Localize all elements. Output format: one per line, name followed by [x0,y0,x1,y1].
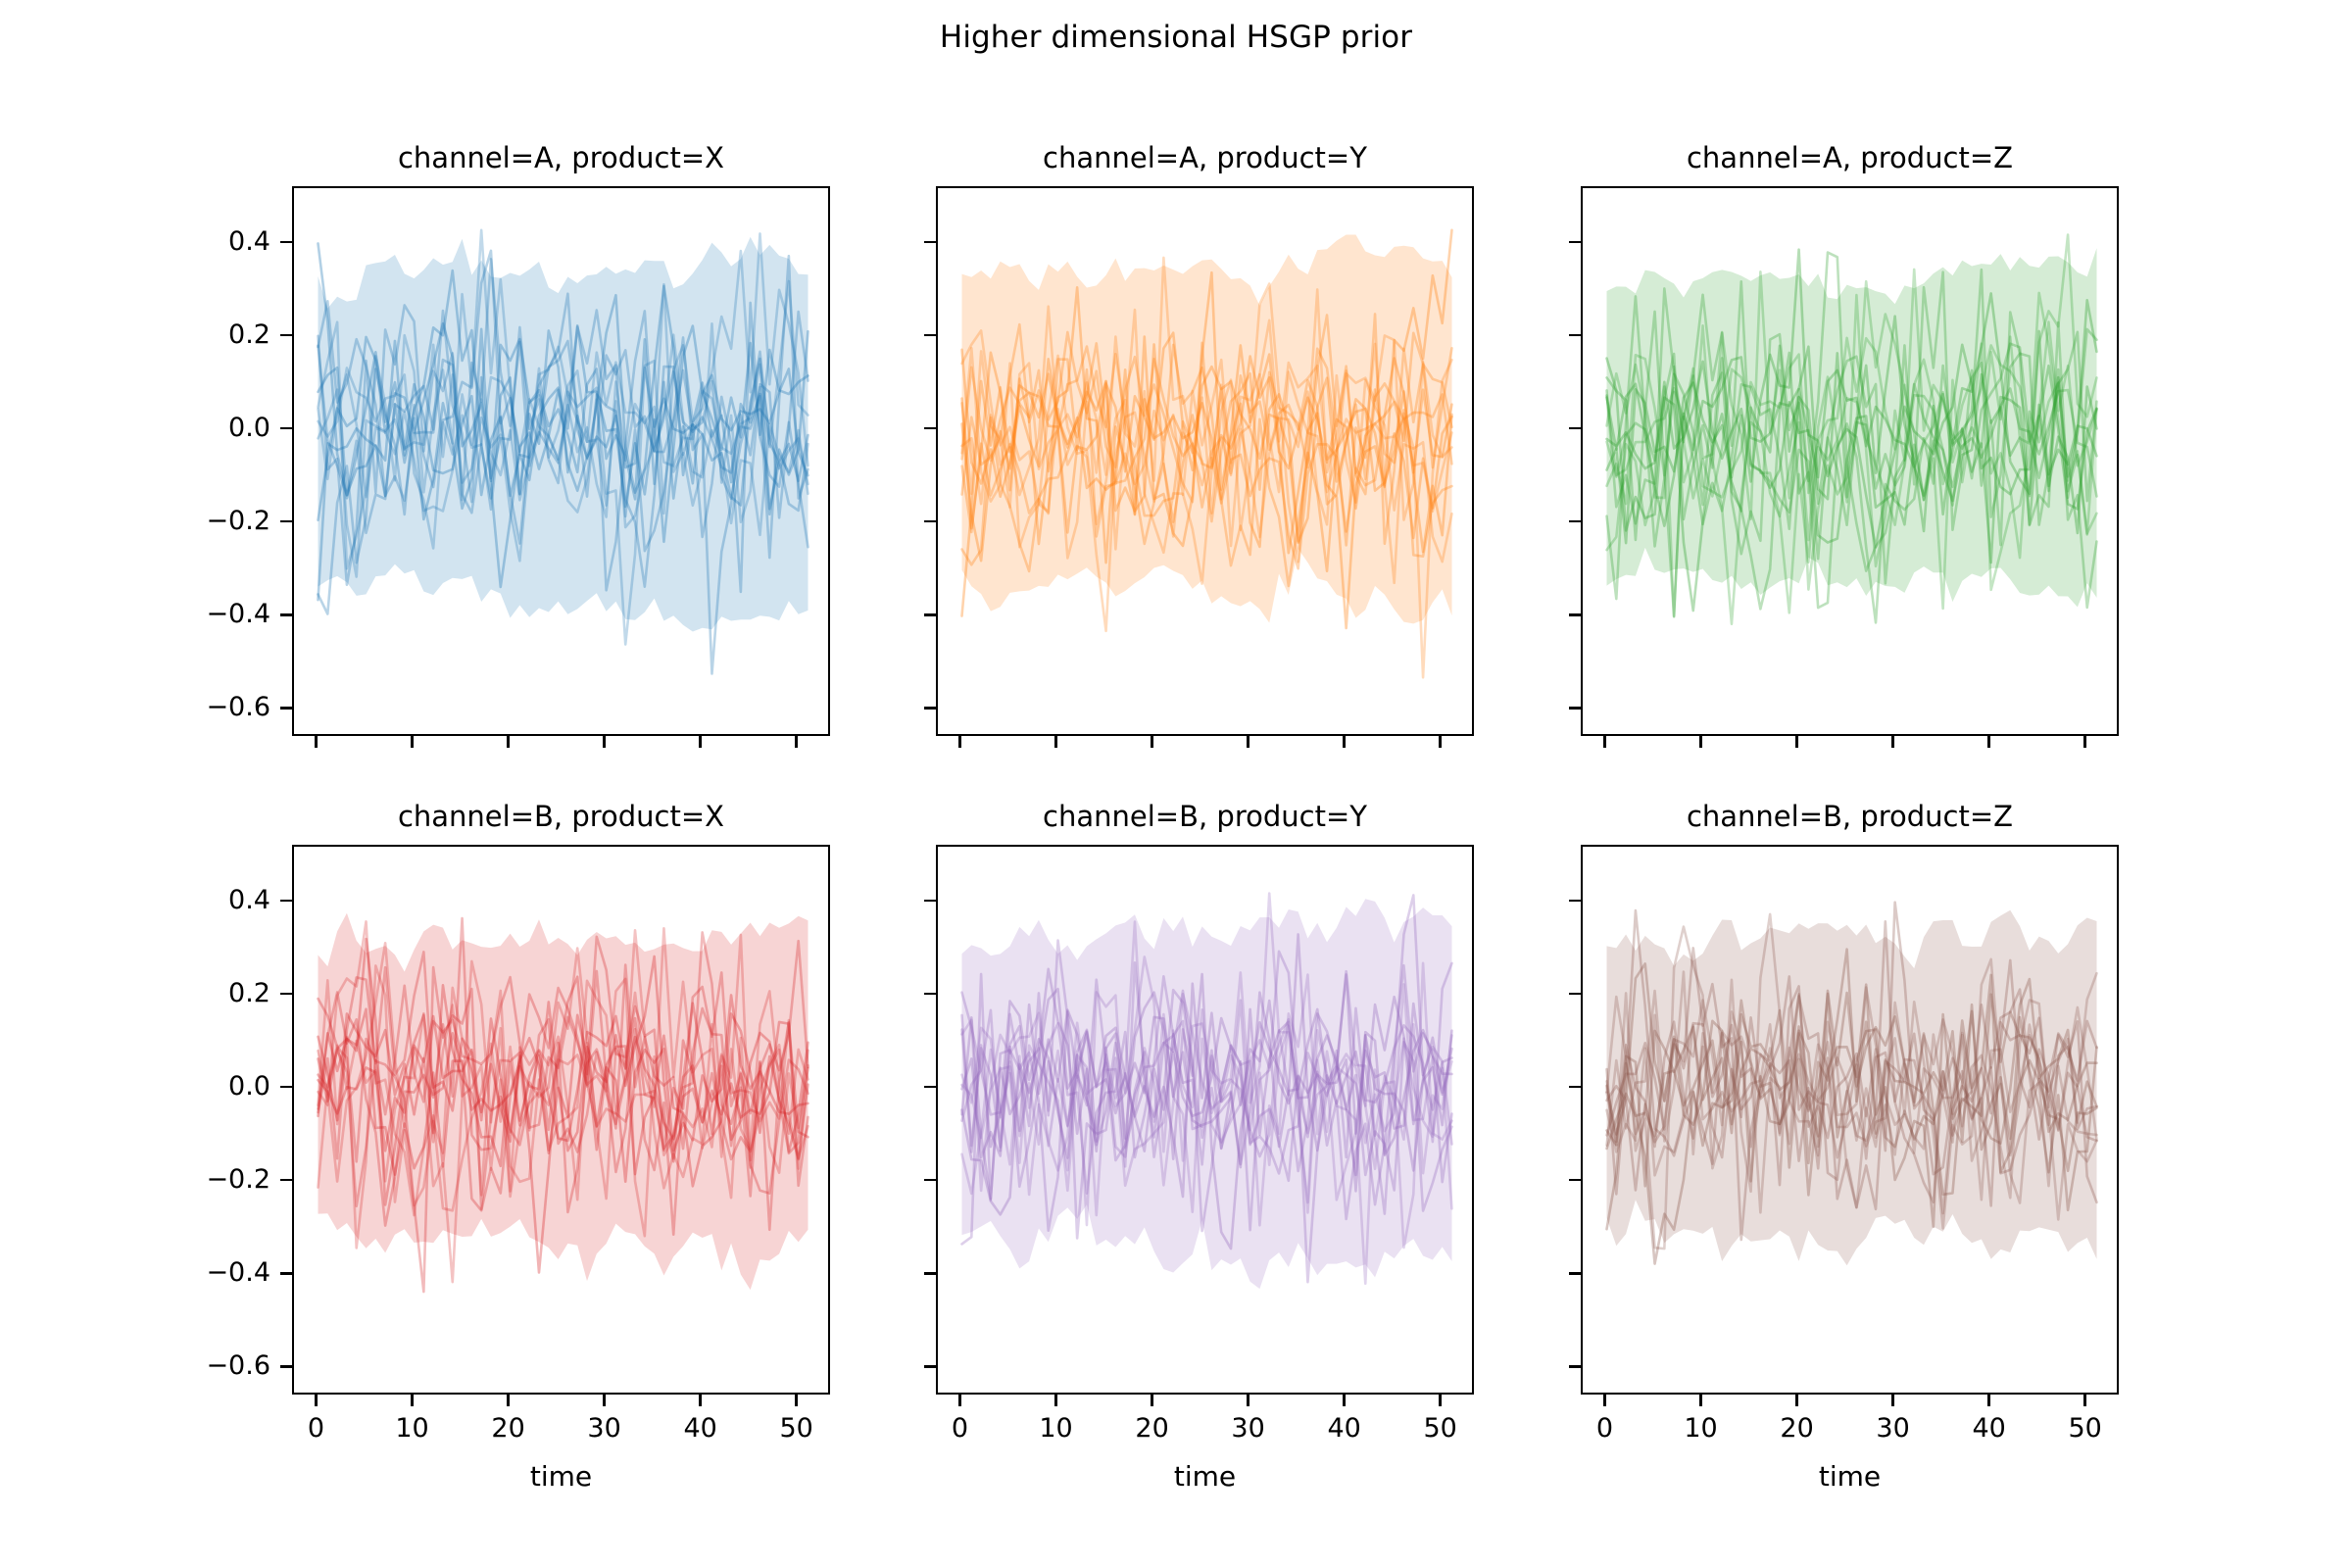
subplot-a-z: channel=A, product=Z [1581,186,2119,736]
y-tick-mark [924,241,936,243]
y-tick-mark [924,1179,936,1181]
plot-lines [1583,188,2119,736]
x-tick-mark [603,736,605,748]
figure-canvas: Higher dimensional HSGP prior channel=A,… [0,0,2352,1568]
y-tick-mark [924,1086,936,1088]
y-tick-mark [280,1179,292,1181]
y-tick-mark [924,613,936,615]
y-tick-mark [280,520,292,522]
x-tick-label: 50 [2069,1414,2102,1444]
y-tick-mark [280,613,292,615]
x-tick-mark [315,1395,317,1406]
axes-area [292,845,830,1395]
y-tick-label: −0.6 [96,1351,270,1381]
y-tick-mark [1569,427,1581,429]
y-tick-mark [1569,707,1581,709]
axes-area [1581,845,2119,1395]
y-tick-mark [924,1365,936,1367]
y-tick-mark [1569,993,1581,995]
x-tick-label: 10 [395,1414,428,1444]
x-tick-mark [1891,736,1893,748]
y-tick-label: 0.4 [96,886,270,915]
x-tick-label: 50 [780,1414,813,1444]
x-tick-label: 20 [1135,1414,1168,1444]
y-tick-label: −0.2 [96,1165,270,1195]
y-tick-label: 0.0 [96,414,270,443]
plot-lines [294,847,830,1395]
x-tick-label: 10 [1684,1414,1717,1444]
y-tick-label: 0.4 [96,227,270,257]
x-tick-label: 0 [1596,1414,1613,1444]
plot-lines [1583,847,2119,1395]
y-tick-label: 0.2 [96,320,270,350]
x-tick-label: 30 [587,1414,620,1444]
x-tick-mark [411,736,413,748]
y-tick-mark [1569,900,1581,902]
y-tick-mark [1569,1272,1581,1274]
x-tick-mark [1603,736,1605,748]
y-tick-mark [1569,241,1581,243]
x-tick-mark [795,1395,797,1406]
x-tick-mark [1343,1395,1345,1406]
y-tick-mark [924,334,936,336]
x-tick-mark [699,1395,701,1406]
subplot-title: channel=B, product=X [292,800,830,833]
y-tick-mark [280,993,292,995]
y-tick-mark [280,427,292,429]
subplot-title: channel=B, product=Z [1581,800,2119,833]
plot-lines [938,847,1474,1395]
axes-area [1581,186,2119,736]
x-tick-mark [507,1395,509,1406]
y-tick-mark [280,707,292,709]
x-tick-label: 30 [1876,1414,1909,1444]
subplot-a-x: channel=A, product=X0.40.20.0−0.2−0.4−0.… [292,186,830,736]
y-tick-mark [280,1365,292,1367]
x-tick-mark [2083,736,2085,748]
subplot-title: channel=A, product=Y [936,141,1474,174]
x-tick-label: 0 [308,1414,324,1444]
x-tick-mark [1891,1395,1893,1406]
x-tick-mark [1054,1395,1056,1406]
x-tick-mark [2083,1395,2085,1406]
y-tick-mark [280,1272,292,1274]
x-axis-label: time [292,1461,830,1493]
figure-suptitle: Higher dimensional HSGP prior [0,18,2352,57]
subplot-title: channel=A, product=X [292,141,830,174]
y-tick-mark [1569,334,1581,336]
plot-lines [938,188,1474,736]
y-tick-mark [924,427,936,429]
y-tick-mark [924,1272,936,1274]
y-tick-mark [924,900,936,902]
x-tick-label: 20 [491,1414,524,1444]
y-tick-label: 0.0 [96,1072,270,1102]
x-tick-mark [1439,1395,1441,1406]
x-tick-label: 10 [1039,1414,1072,1444]
subplot-b-z: channel=B, product=Z01020304050time [1581,845,2119,1395]
y-tick-mark [1569,613,1581,615]
axes-area [936,845,1474,1395]
x-tick-mark [1795,1395,1797,1406]
x-tick-mark [1151,1395,1152,1406]
y-tick-mark [924,707,936,709]
x-tick-mark [603,1395,605,1406]
subplot-title: channel=B, product=Y [936,800,1474,833]
y-tick-mark [1569,520,1581,522]
y-tick-mark [1569,1365,1581,1367]
y-tick-mark [280,241,292,243]
y-tick-mark [280,1086,292,1088]
x-tick-label: 40 [1327,1414,1360,1444]
x-tick-label: 20 [1780,1414,1813,1444]
subplot-a-y: channel=A, product=Y [936,186,1474,736]
x-tick-label: 40 [683,1414,716,1444]
y-tick-mark [1569,1086,1581,1088]
x-tick-mark [1987,1395,1989,1406]
axes-area [936,186,1474,736]
x-axis-label: time [936,1461,1474,1493]
x-tick-mark [1151,736,1152,748]
x-tick-label: 50 [1424,1414,1457,1444]
y-tick-mark [1569,1179,1581,1181]
x-tick-mark [1603,1395,1605,1406]
y-tick-label: 0.2 [96,979,270,1008]
x-tick-mark [958,736,960,748]
y-tick-label: −0.4 [96,600,270,629]
y-tick-mark [924,520,936,522]
x-tick-mark [1699,1395,1701,1406]
x-tick-mark [1795,736,1797,748]
x-tick-mark [1247,1395,1249,1406]
x-tick-mark [411,1395,413,1406]
x-tick-label: 0 [952,1414,968,1444]
x-tick-mark [315,736,317,748]
x-tick-mark [1343,736,1345,748]
y-tick-label: −0.6 [96,693,270,722]
subplot-b-x: channel=B, product=X0.40.20.0−0.2−0.4−0.… [292,845,830,1395]
subplot-b-y: channel=B, product=Y01020304050time [936,845,1474,1395]
y-tick-label: −0.2 [96,507,270,536]
plot-lines [294,188,830,736]
subplot-title: channel=A, product=Z [1581,141,2119,174]
x-axis-label: time [1581,1461,2119,1493]
y-tick-mark [280,334,292,336]
y-tick-mark [280,900,292,902]
x-tick-mark [699,736,701,748]
y-tick-label: −0.4 [96,1258,270,1288]
x-tick-label: 40 [1972,1414,2005,1444]
x-tick-mark [1054,736,1056,748]
x-tick-mark [507,736,509,748]
y-tick-mark [924,993,936,995]
x-tick-mark [795,736,797,748]
x-tick-mark [958,1395,960,1406]
x-tick-mark [1439,736,1441,748]
x-tick-label: 30 [1231,1414,1264,1444]
axes-area [292,186,830,736]
x-tick-mark [1699,736,1701,748]
x-tick-mark [1247,736,1249,748]
x-tick-mark [1987,736,1989,748]
